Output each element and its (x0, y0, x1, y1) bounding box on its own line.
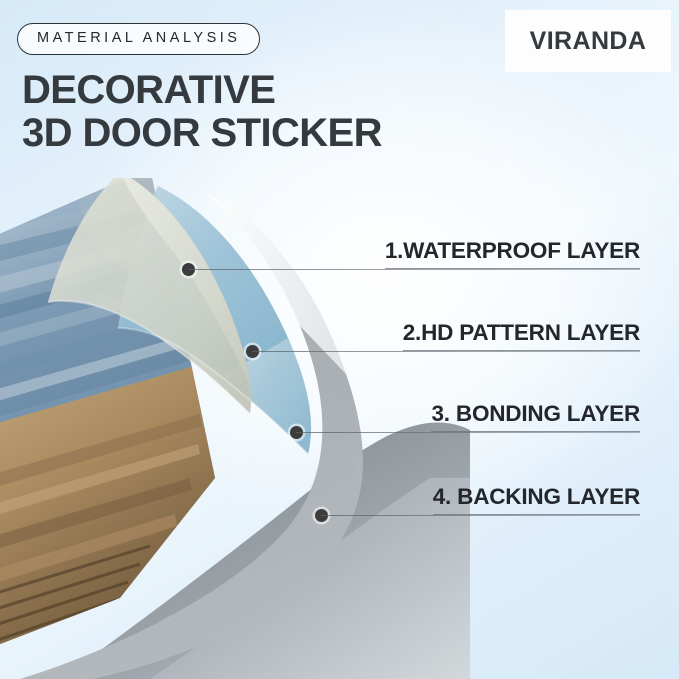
callout-label-3: 3. BONDING LAYER (431, 401, 640, 432)
callout-label-2: 2.HD PATTERN LAYER (403, 320, 640, 351)
callout-label-1: 1.WATERPROOF LAYER (385, 238, 640, 269)
brand-name: VIRANDA (530, 27, 647, 56)
eyebrow-badge: MATERIAL ANALYSIS (17, 23, 260, 55)
brand-logo: VIRANDA (505, 10, 671, 72)
infographic-canvas: MATERIAL ANALYSIS DECORATIVE 3D DOOR STI… (0, 0, 679, 679)
title-line-2: 3D DOOR STICKER (22, 112, 382, 155)
page-title: DECORATIVE 3D DOOR STICKER (22, 69, 382, 155)
title-line-1: DECORATIVE (22, 68, 275, 112)
callout-label-4: 4. BACKING LAYER (433, 484, 640, 515)
